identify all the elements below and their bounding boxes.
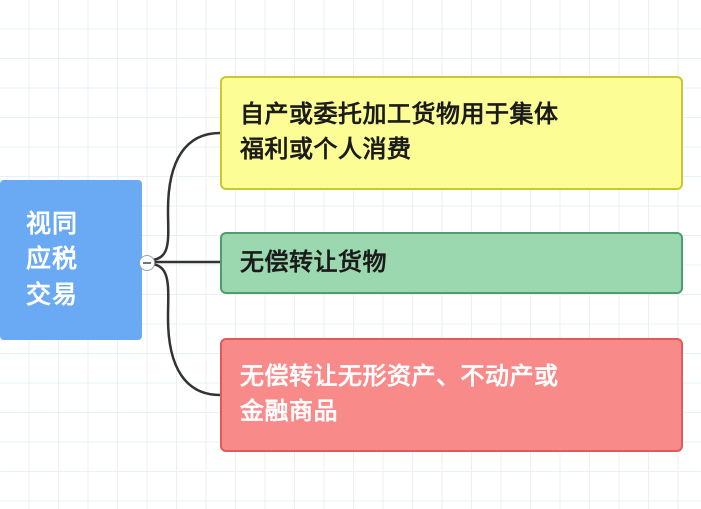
mindmap-root-node[interactable]: 视同 应税 交易: [0, 180, 142, 340]
minus-icon: [143, 262, 151, 264]
mindmap-canvas: 视同 应税 交易 自产或委托加工货物用于集体 福利或个人消费 无偿转让货物 无偿…: [0, 0, 701, 509]
mindmap-branch-node-1[interactable]: 自产或委托加工货物用于集体 福利或个人消费: [220, 76, 683, 190]
collapse-toggle-button[interactable]: [139, 255, 155, 271]
branch-node-1-label: 自产或委托加工货物用于集体 福利或个人消费: [240, 98, 559, 168]
edge-root-to-branch-3: [142, 264, 220, 395]
edge-root-to-branch-1: [142, 133, 220, 260]
mindmap-branch-node-3[interactable]: 无偿转让无形资产、不动产或 金融商品: [220, 338, 683, 452]
branch-node-3-label: 无偿转让无形资产、不动产或 金融商品: [240, 360, 559, 430]
branch-node-2-label: 无偿转让货物: [240, 246, 387, 281]
root-node-label: 视同 应税 交易: [26, 207, 78, 314]
mindmap-branch-node-2[interactable]: 无偿转让货物: [220, 232, 683, 294]
